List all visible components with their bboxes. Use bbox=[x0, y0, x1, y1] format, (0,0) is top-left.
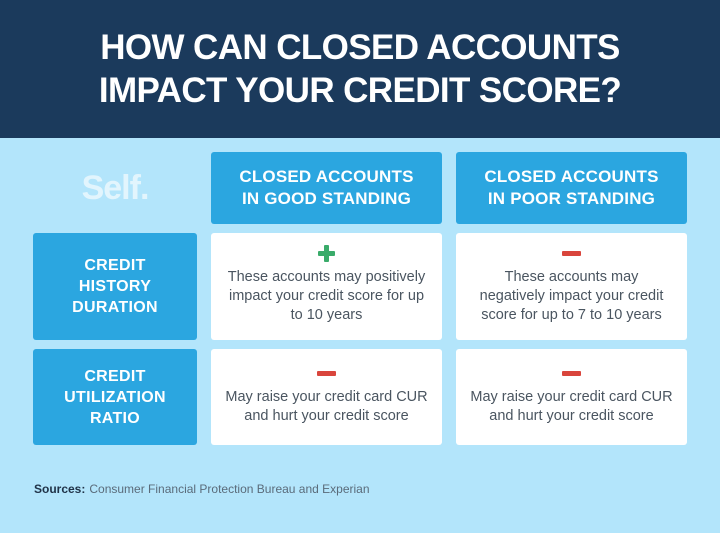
row-label-credit-utilization-ratio: CREDIT UTILIZATION RATIO bbox=[33, 349, 197, 445]
column-header-poor-standing-line-1: CLOSED ACCOUNTS bbox=[484, 166, 658, 188]
cell-history-good-standing: These accounts may positively impact you… bbox=[211, 233, 442, 340]
cell-utilization-poor-standing: May raise your credit card CUR and hurt … bbox=[456, 349, 687, 445]
row-label-credit-utilization-ratio-line-2: UTILIZATION bbox=[64, 387, 166, 408]
row-label-credit-utilization-ratio-line-3: RATIO bbox=[90, 408, 140, 429]
cell-history-poor-standing: These accounts may negatively impact you… bbox=[456, 233, 687, 340]
cell-utilization-good-standing-text: May raise your credit card CUR and hurt … bbox=[225, 388, 428, 426]
page-title-line-1: HOW CAN CLOSED ACCOUNTS bbox=[100, 26, 620, 69]
row-label-credit-history-duration: CREDIT HISTORY DURATION bbox=[33, 233, 197, 340]
sources-label: Sources: bbox=[34, 482, 85, 496]
minus-icon bbox=[562, 365, 581, 382]
column-header-good-standing-line-2: IN GOOD STANDING bbox=[242, 188, 411, 210]
header-banner: HOW CAN CLOSED ACCOUNTS IMPACT YOUR CRED… bbox=[0, 0, 720, 138]
sources-footer: Sources: Consumer Financial Protection B… bbox=[33, 445, 687, 533]
page-title-line-2: IMPACT YOUR CREDIT SCORE? bbox=[99, 69, 621, 112]
column-header-poor-standing-line-2: IN POOR STANDING bbox=[488, 188, 655, 210]
row-label-credit-utilization-ratio-line-1: CREDIT bbox=[84, 366, 145, 387]
brand-logo: Self. bbox=[33, 152, 197, 224]
cell-history-poor-standing-text: These accounts may negatively impact you… bbox=[470, 268, 673, 325]
minus-icon bbox=[562, 245, 581, 262]
cell-utilization-poor-standing-text: May raise your credit card CUR and hurt … bbox=[470, 388, 673, 426]
minus-icon bbox=[317, 365, 336, 382]
column-header-poor-standing: CLOSED ACCOUNTS IN POOR STANDING bbox=[456, 152, 687, 224]
row-label-credit-history-duration-line-3: DURATION bbox=[72, 297, 158, 318]
row-label-credit-history-duration-line-1: CREDIT bbox=[84, 255, 145, 276]
plus-icon bbox=[318, 245, 335, 262]
cell-history-good-standing-text: These accounts may positively impact you… bbox=[225, 268, 428, 325]
comparison-matrix: Self. CLOSED ACCOUNTS IN GOOD STANDING C… bbox=[33, 152, 687, 445]
column-header-good-standing-line-1: CLOSED ACCOUNTS bbox=[239, 166, 413, 188]
infographic-root: HOW CAN CLOSED ACCOUNTS IMPACT YOUR CRED… bbox=[0, 0, 720, 533]
sources-value: Consumer Financial Protection Bureau and… bbox=[89, 482, 369, 496]
column-header-good-standing: CLOSED ACCOUNTS IN GOOD STANDING bbox=[211, 152, 442, 224]
row-label-credit-history-duration-line-2: HISTORY bbox=[79, 276, 151, 297]
body-area: Self. CLOSED ACCOUNTS IN GOOD STANDING C… bbox=[0, 138, 720, 533]
cell-utilization-good-standing: May raise your credit card CUR and hurt … bbox=[211, 349, 442, 445]
brand-logo-text: Self. bbox=[82, 171, 149, 205]
